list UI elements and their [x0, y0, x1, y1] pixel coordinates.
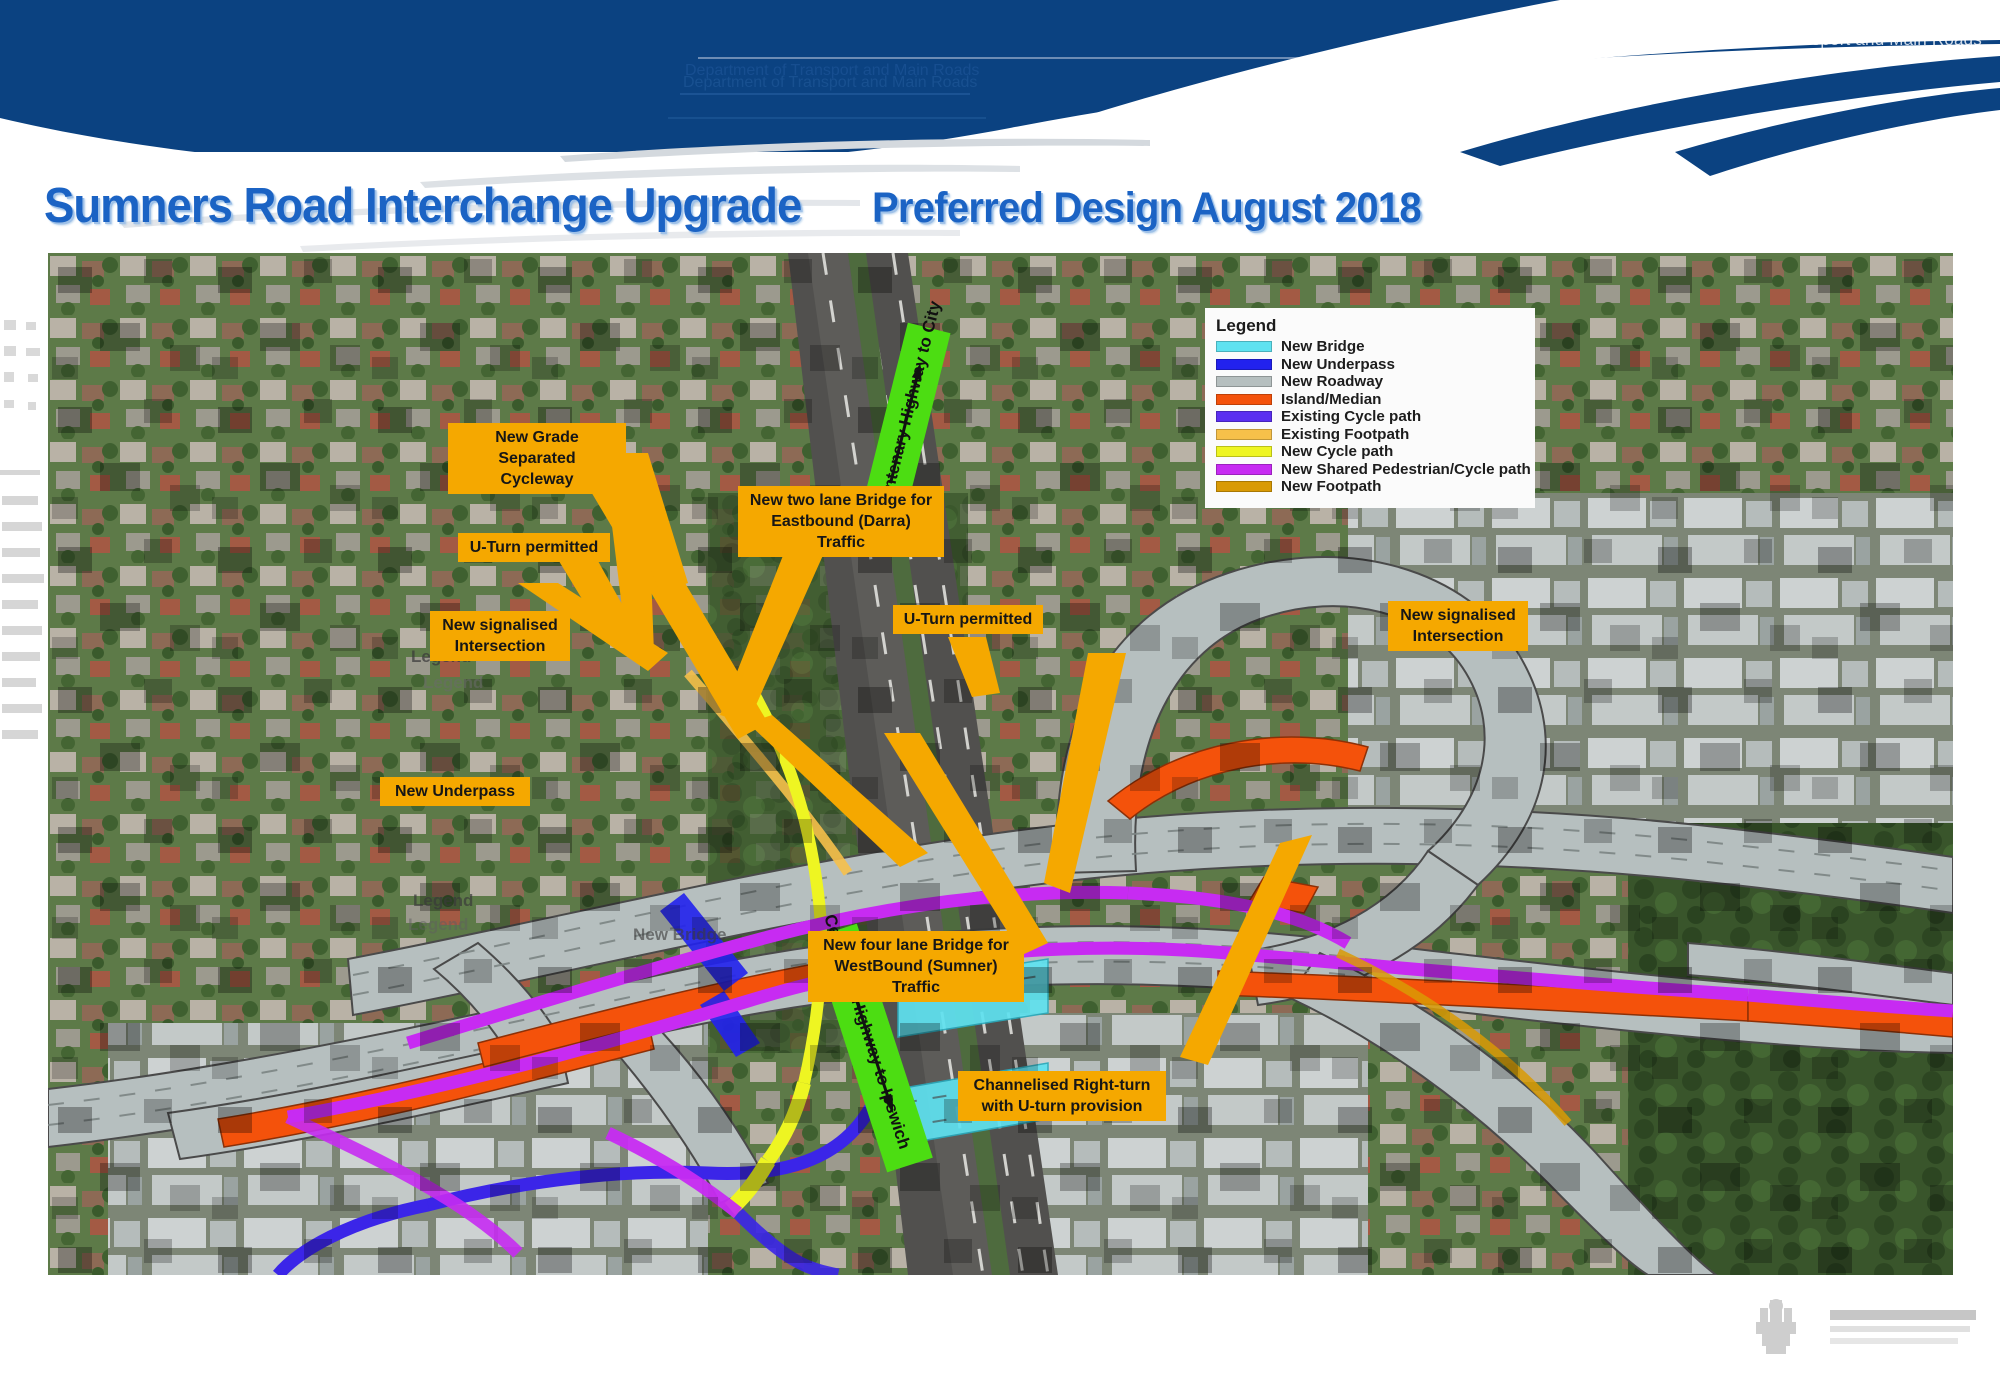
- legend-swatch-existing-footpath: [1216, 429, 1272, 440]
- legend-label-new-roadway: New Roadway: [1281, 373, 1383, 390]
- legend-label-existing-footpath: Existing Footpath: [1281, 426, 1409, 443]
- legend-item-existing-footpath: Existing Footpath: [1213, 426, 1527, 444]
- legend-label-new-underpass: New Underpass: [1281, 356, 1395, 373]
- ghost-legend-text-2-shadow: Legend: [408, 915, 468, 935]
- callout-u-turn-permitted-centre[interactable]: U-Turn permitted: [893, 605, 1043, 634]
- ghost-legend-text-shadow: Legend: [423, 673, 483, 693]
- aerial-map[interactable]: Centenary Highway to City Centenary High…: [48, 253, 1953, 1275]
- page-title: Sumners Road Interchange UpgradePreferre…: [44, 178, 1462, 240]
- poster-page: Department of Transport and Main Roads D…: [0, 0, 2000, 1374]
- left-edge-artifact: [0, 300, 46, 920]
- legend-item-new-roadway: New Roadway: [1213, 373, 1527, 391]
- legend-swatch-new-bridge: [1216, 341, 1272, 352]
- legend-item-new-cycle-path: New Cycle path: [1213, 443, 1527, 461]
- map-legend: Legend New Bridge New Underpass New Road…: [1205, 308, 1535, 508]
- legend-label-new-bridge: New Bridge: [1281, 338, 1365, 355]
- callout-two-lane-bridge-eastbound[interactable]: New two lane Bridge for Eastbound (Darra…: [738, 486, 944, 557]
- callout-channelised-right-turn[interactable]: Channelised Right-turn with U-turn provi…: [958, 1071, 1166, 1121]
- ghost-legend-text-2: Legend: [413, 891, 473, 911]
- legend-swatch-new-cycle-path: [1216, 446, 1272, 457]
- callout-four-lane-bridge-westbound[interactable]: New four lane Bridge for WestBound (Sumn…: [808, 931, 1024, 1002]
- legend-item-new-bridge: New Bridge: [1213, 338, 1527, 356]
- callout-u-turn-permitted-left[interactable]: U-Turn permitted: [458, 533, 610, 562]
- legend-item-new-footpath: New Footpath: [1213, 478, 1527, 496]
- legend-label-island-median: Island/Median: [1281, 391, 1381, 408]
- legend-label-existing-cycle-path: Existing Cycle path: [1281, 408, 1421, 425]
- legend-swatch-new-underpass: [1216, 359, 1272, 370]
- callout-leaders: [48, 253, 1953, 1275]
- legend-item-island-median: Island/Median: [1213, 391, 1527, 409]
- legend-heading: Legend: [1216, 316, 1527, 336]
- legend-swatch-new-roadway: [1216, 376, 1272, 387]
- legend-item-existing-cycle-path: Existing Cycle path: [1213, 408, 1527, 426]
- callout-grade-separated-cycleway[interactable]: New Grade Separated Cycleway: [448, 423, 626, 494]
- legend-item-new-shared-path: New Shared Pedestrian/Cycle path: [1213, 461, 1527, 479]
- legend-item-new-underpass: New Underpass: [1213, 356, 1527, 374]
- legend-label-new-cycle-path: New Cycle path: [1281, 443, 1393, 460]
- callout-new-signalised-intersection-right[interactable]: New signalised Intersection: [1388, 601, 1528, 651]
- page-title-sub: Preferred Design August 2018: [872, 184, 1421, 233]
- queensland-government-logo: [1740, 1292, 1990, 1362]
- page-title-main: Sumners Road Interchange Upgrade: [44, 178, 801, 234]
- callout-new-underpass[interactable]: New Underpass: [380, 777, 530, 806]
- legend-label-new-shared-path: New Shared Pedestrian/Cycle path: [1281, 461, 1531, 478]
- legend-swatch-island-median: [1216, 394, 1272, 405]
- legend-swatch-existing-cycle-path: [1216, 411, 1272, 422]
- legend-swatch-new-footpath: [1216, 481, 1272, 492]
- ghost-new-bridge-text: New Bridge: [633, 925, 727, 945]
- legend-swatch-new-shared-path: [1216, 464, 1272, 475]
- callout-new-signalised-intersection-left[interactable]: New signalised Intersection: [430, 611, 570, 661]
- legend-label-new-footpath: New Footpath: [1281, 478, 1381, 495]
